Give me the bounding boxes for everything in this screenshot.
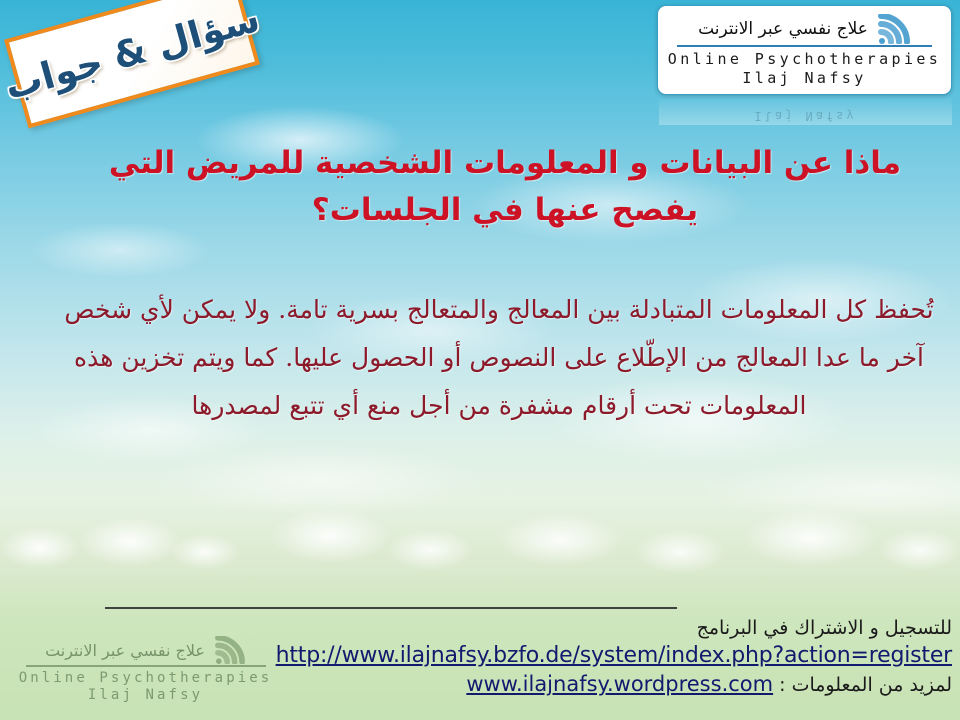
footer-more-info-label: لمزيد من المعلومات : xyxy=(773,674,952,696)
slide-footer: للتسجيل و الاشتراك في البرنامج http://ww… xyxy=(232,616,952,700)
logo-english-subname: Ilaj Nafsy xyxy=(742,69,866,87)
footer-register-label: للتسجيل و الاشتراك في البرنامج xyxy=(232,616,952,642)
logo-english-name: Online Psychotherapies xyxy=(668,50,941,68)
horizon-clouds-decoration xyxy=(0,470,960,590)
wifi-signal-icon xyxy=(877,14,911,44)
brand-logo-watermark: علاج نفسي عبر الانترنت Online Psychother… xyxy=(18,636,273,703)
watermark-logo-arabic-name: علاج نفسي عبر الانترنت xyxy=(45,641,205,660)
logo-reflection: Ilaj Nafsy xyxy=(659,95,952,125)
watermark-logo-top-row: علاج نفسي عبر الانترنت xyxy=(26,636,266,667)
heading-line-2: يفصح عنها في الجلسات؟ xyxy=(60,187,950,234)
logo-reflection-text: Ilaj Nafsy xyxy=(754,109,856,123)
qa-banner-label: سؤال & جواب xyxy=(0,0,264,108)
logo-arabic-name: علاج نفسي عبر الانترنت xyxy=(698,19,868,39)
footer-register-link[interactable]: http://www.ilajnafsy.bzfo.de/system/inde… xyxy=(232,642,952,671)
slide-body-paragraph: تُحفظ كل المعلومات المتبادلة بين المعالج… xyxy=(62,286,936,430)
slide-heading: ماذا عن البيانات و المعلومات الشخصية للم… xyxy=(60,140,950,234)
watermark-logo-english-subname: Ilaj Nafsy xyxy=(88,687,203,703)
qa-banner: سؤال & جواب xyxy=(4,0,260,128)
heading-line-1: ماذا عن البيانات و المعلومات الشخصية للم… xyxy=(109,145,901,181)
brand-logo-card: علاج نفسي عبر الانترنت Online Psychother… xyxy=(657,5,952,95)
footer-more-info-link[interactable]: www.ilajnafsy.wordpress.com xyxy=(466,672,773,696)
wifi-signal-icon xyxy=(214,636,246,664)
slide-canvas: سؤال & جواب علاج نفسي عبر الانترنت Onlin… xyxy=(0,0,960,720)
footer-divider xyxy=(105,607,677,609)
footer-more-info-row: لمزيد من المعلومات : www.ilajnafsy.wordp… xyxy=(232,670,952,699)
logo-top-row: علاج نفسي عبر الانترنت xyxy=(677,14,932,47)
watermark-logo-english-name: Online Psychotherapies xyxy=(19,670,273,686)
